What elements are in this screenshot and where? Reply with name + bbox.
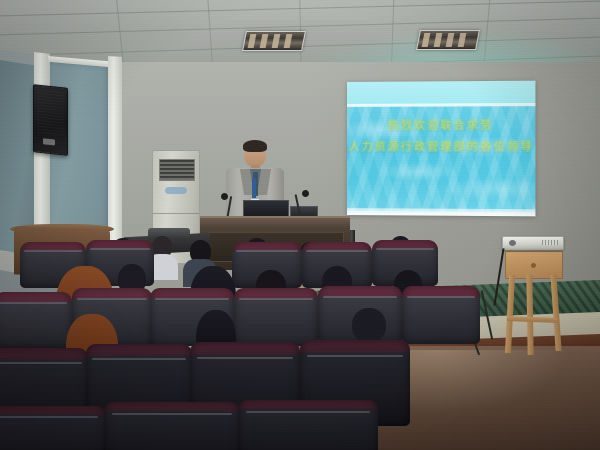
wall-speaker-icon xyxy=(33,84,68,156)
presenter-hair xyxy=(243,140,267,152)
presenter-lanyard xyxy=(252,178,256,200)
ceiling-light-fixture xyxy=(416,30,480,50)
slide-top-band xyxy=(347,81,535,104)
attendee-head xyxy=(352,308,386,342)
slide-bottom-glow xyxy=(347,208,535,216)
auditorium-seat xyxy=(0,292,72,348)
ceiling-light-fixture xyxy=(242,31,306,51)
microphone-head-left xyxy=(221,193,228,200)
slide-line-2: 人力资源行政管理部的各位领导 xyxy=(347,137,535,158)
auditorium-seat xyxy=(234,288,318,346)
speaker-logo xyxy=(43,138,55,145)
projection-screen: 热烈欢迎联合求劳 人力资源行政管理部的各位领导 xyxy=(347,81,535,217)
auditorium-seat xyxy=(0,406,106,450)
auditorium-seat xyxy=(402,286,480,344)
ac-brand-badge xyxy=(165,187,187,194)
conference-room-photo: 热烈欢迎联合求劳 人力资源行政管理部的各位领导 xyxy=(0,0,600,450)
slide-text-block: 热烈欢迎联合求劳 人力资源行政管理部的各位领导 xyxy=(347,115,535,158)
speaker-grill xyxy=(37,90,64,137)
audience-area xyxy=(0,236,600,450)
ac-vent-icon xyxy=(159,159,195,181)
auditorium-seat xyxy=(104,402,240,450)
slide-line-1: 热烈欢迎联合求劳 xyxy=(347,115,535,137)
ac-seam xyxy=(153,213,199,214)
microphone-head-right xyxy=(302,190,309,197)
auditorium-seat xyxy=(238,400,378,450)
